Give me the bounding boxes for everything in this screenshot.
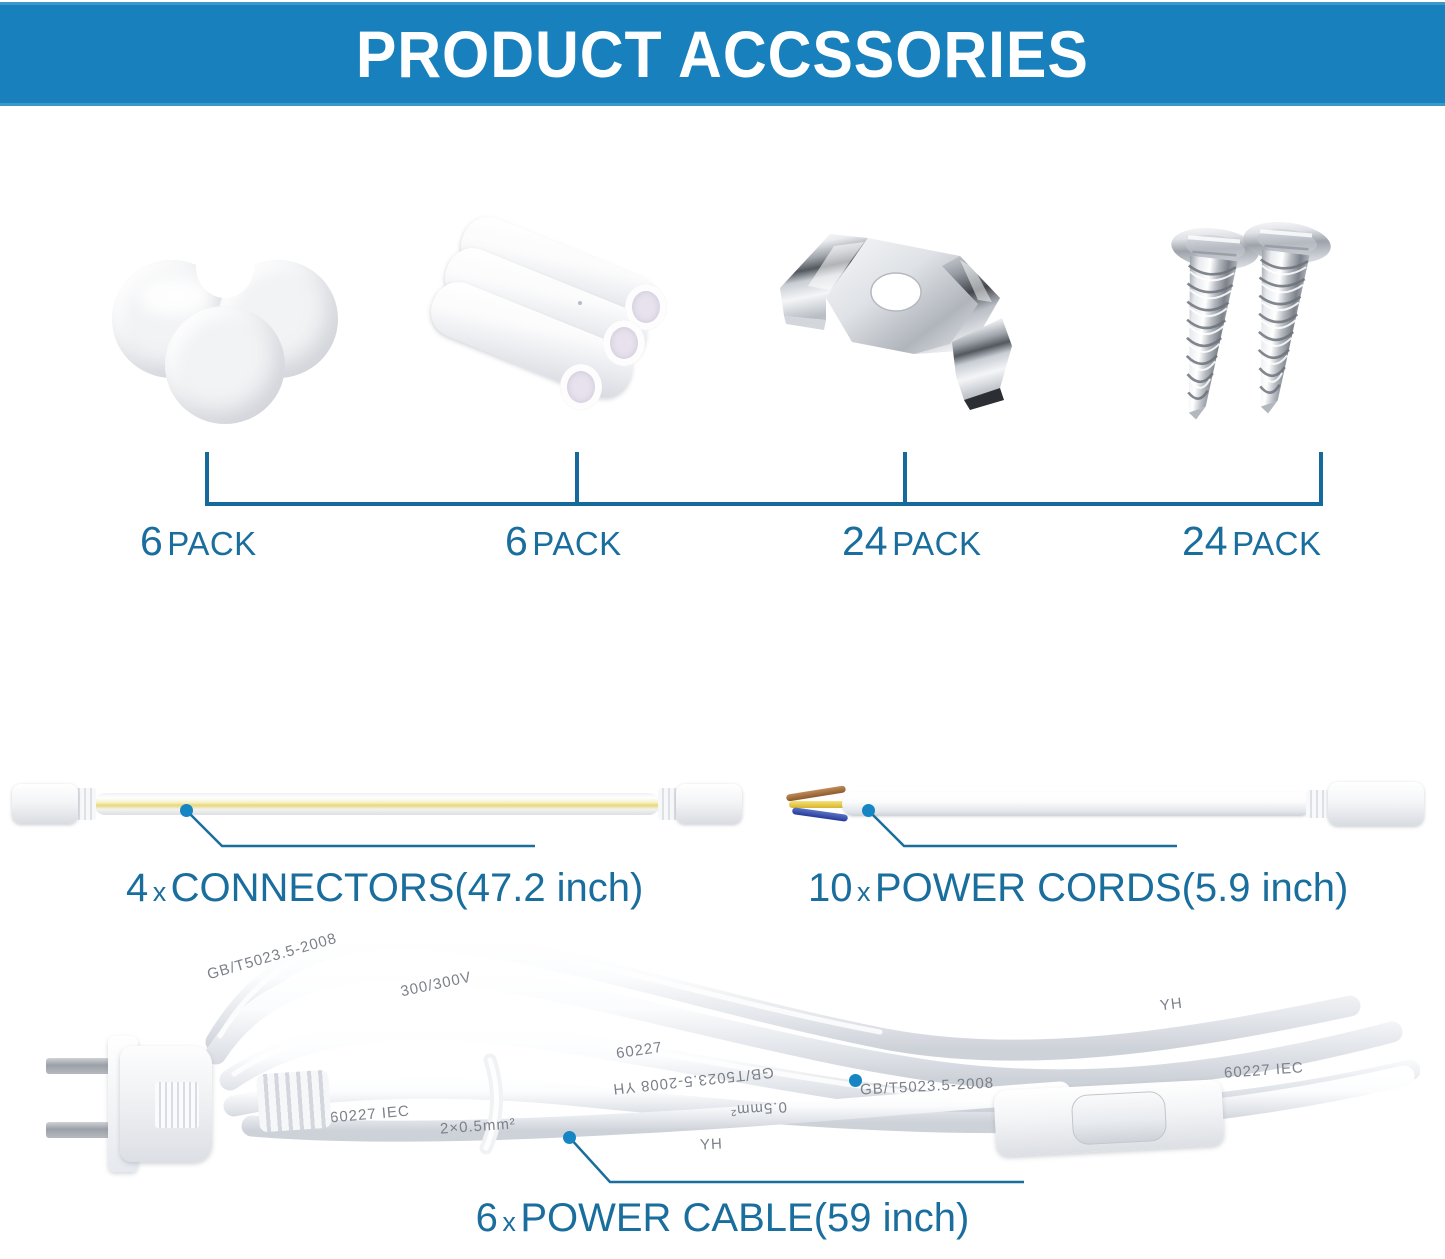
leader-line-power-cords (862, 800, 1182, 862)
caption-mult: x (857, 877, 871, 907)
leader-line-connectors (180, 800, 540, 862)
header-banner: PRODUCT ACCSSORIES (0, 2, 1445, 106)
bracket-tick (903, 452, 907, 506)
pack-label-end-cap: 6 PACK (140, 518, 257, 565)
metal-mounting-clip-icon (764, 224, 1024, 424)
product-cell-tube-connector (432, 216, 704, 461)
top-product-row (0, 216, 1445, 461)
product-cell-mounting-clip (758, 216, 1030, 461)
leader-line-power-cable (562, 1130, 1032, 1200)
caption-text: POWER CABLE(59 inch) (520, 1196, 969, 1240)
caption-text: CONNECTORS(47.2 inch) (171, 866, 644, 910)
page-title: PRODUCT ACCSSORIES (356, 16, 1089, 92)
pack-qty: 6 (140, 518, 163, 564)
pack-label-mounting-clip: 24 PACK (842, 518, 981, 565)
caption-connectors: 4 x CONNECTORS(47.2 inch) (126, 866, 643, 911)
leader-dot-power-cords (862, 804, 875, 817)
pack-unit: PACK (1232, 525, 1321, 562)
pack-label-screws: 24 PACK (1182, 518, 1321, 565)
plug-grip-ribs (155, 1082, 199, 1128)
caption-power-cords: 10 x POWER CORDS(5.9 inch) (808, 866, 1348, 911)
bracket (205, 452, 1323, 506)
pack-qty: 24 (1182, 518, 1228, 564)
tri-lobe-end-cap-icon (112, 242, 338, 424)
bracket-horizontal-line (205, 502, 1323, 506)
caption-mult: x (153, 877, 167, 907)
product-cell-end-cap (90, 216, 360, 461)
pack-unit: PACK (167, 525, 256, 562)
bracket-tick (205, 452, 209, 506)
leader-dot-cable-mid (849, 1074, 862, 1087)
caption-qty: 6 (476, 1196, 498, 1240)
cable-strain-relief (256, 1070, 332, 1133)
bracket-tick (1319, 452, 1323, 506)
leader-dot-power-cable (563, 1131, 576, 1144)
pack-qty: 6 (505, 518, 528, 564)
caption-qty: 10 (808, 866, 853, 910)
pack-qty: 24 (842, 518, 888, 564)
pack-unit: PACK (532, 525, 621, 562)
inline-switch-rocker[interactable] (1071, 1091, 1167, 1146)
caption-power-cable: 6 x POWER CABLE(59 inch) (0, 1196, 1445, 1241)
pack-label-tube-connector: 6 PACK (505, 518, 622, 565)
pack-unit: PACK (892, 525, 981, 562)
bracket-tick (575, 452, 579, 506)
leader-dot-connectors (180, 804, 193, 817)
caption-qty: 4 (126, 866, 148, 910)
tube-connector-icon (432, 228, 704, 438)
caption-text: POWER CORDS(5.9 inch) (875, 866, 1348, 910)
caption-mult: x (502, 1207, 516, 1237)
product-cell-screws (1136, 216, 1376, 461)
